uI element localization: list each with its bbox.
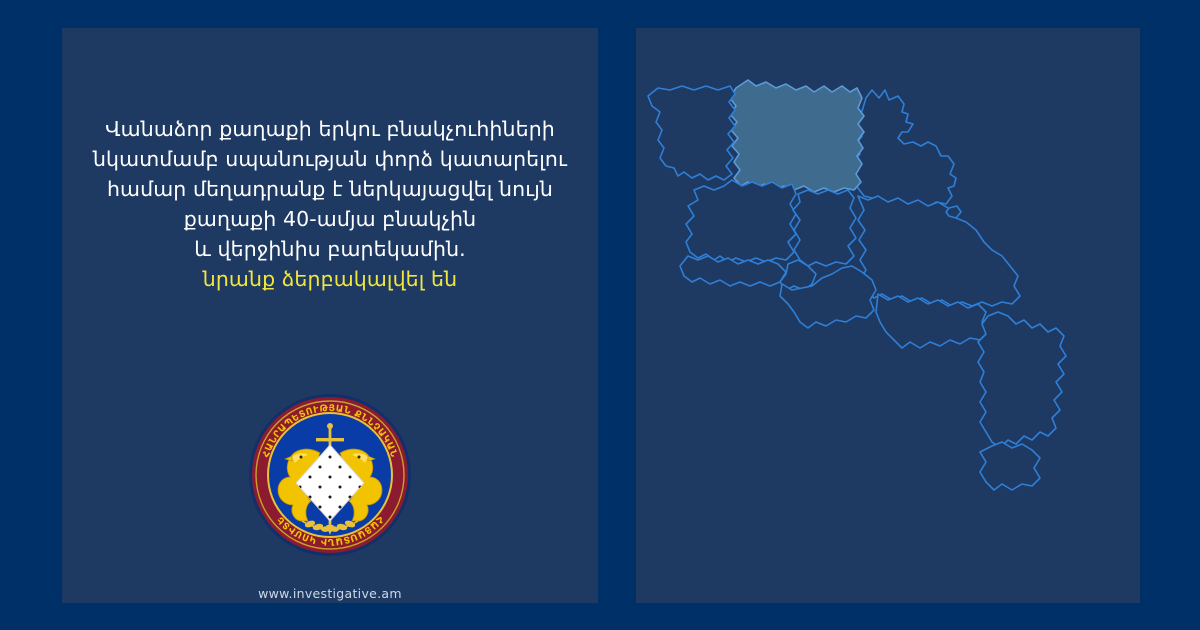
map-region-syunik <box>978 312 1066 448</box>
map-region-sevan-island <box>946 206 961 218</box>
page-title: Վանաձոր քաղաքի երկու բնակչուհիների նկատմ… <box>62 114 598 294</box>
map-region-armavir <box>680 256 786 286</box>
armenia-regions-map <box>636 28 1140 603</box>
headline-line-2: նկատմամբ սպանության փորձ կատարելու <box>62 144 598 174</box>
site-url-label: www.investigative.am <box>62 586 598 601</box>
headline-line-5: և վերջինիս բարեկամին. <box>62 234 598 264</box>
poster-canvas: Վանաձոր քաղաքի երկու բնակչուհիների նկատմ… <box>0 0 1200 630</box>
armenian-investigative-committee-emblem-icon: ՀԱՆՐԱՊԵՏՈՒԹՅԱՆ ՔՆՆՉԱԿԱՆ ՀԱՅԱՍՏԱՆԻ ԿՈՄԻՏԵ <box>248 393 412 557</box>
map-region-syunik-south-tail <box>980 442 1040 490</box>
map-region-gegharkunik <box>858 196 1020 306</box>
headline-line-4: քաղաքի 40-ամյա բնակչին <box>62 204 598 234</box>
map-region-kotayk <box>793 190 856 266</box>
map-region-aragatsotn <box>686 180 796 262</box>
left-content-panel: Վանաձոր քաղաքի երկու բնակչուհիների նկատմ… <box>62 28 598 603</box>
headline-accent-line: նրանք ձերբակալվել են <box>62 264 598 294</box>
headline-line-3: համար մեղադրանք է ներկայացվել նույն <box>62 174 598 204</box>
map-region-shirak <box>648 86 735 180</box>
map-panel <box>636 28 1140 603</box>
headline-line-1: Վանաձոր քաղաքի երկու բնակչուհիների <box>62 114 598 144</box>
map-region-tavush <box>852 90 956 210</box>
map-region-lori-highlighted <box>730 80 864 192</box>
